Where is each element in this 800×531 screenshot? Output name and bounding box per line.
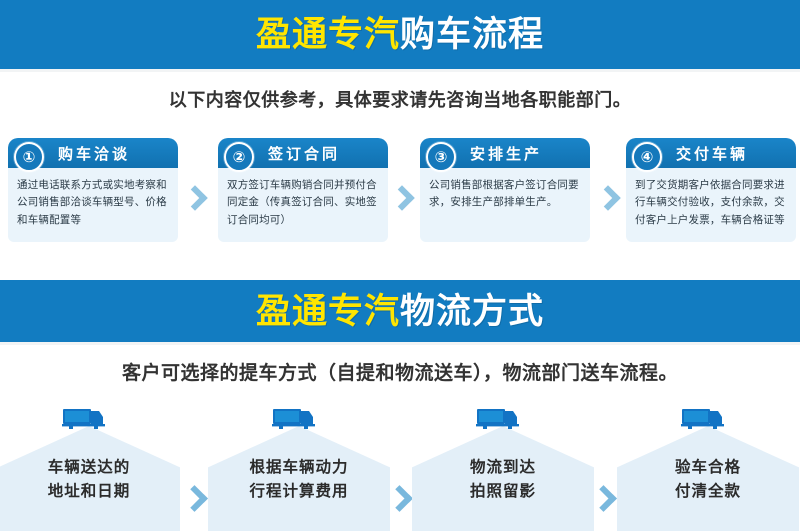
step-number-badge-3: ③ <box>426 142 456 172</box>
subtitle-logistics: 客户可选择的提车方式（自提和物流送车），物流部门送车流程。 <box>0 358 800 385</box>
banner-underline-1 <box>0 69 800 72</box>
subtitle-purchase: 以下内容仅供参考，具体要求请先咨询当地各职能部门。 <box>0 86 800 112</box>
banner-logistics: 盈通专汽物流方式 <box>0 280 800 342</box>
purchase-steps-row: ① 购车洽谈 通过电话联系方式或实地考察和公司销售部洽谈车辆型号、价格和车辆配置… <box>0 138 800 248</box>
logistics-text-3: 物流到达 拍照留影 <box>412 456 594 504</box>
banner-purchase-title: 盈通专汽购车流程 <box>256 17 544 52</box>
logistics-line1-1: 车辆送达的 <box>0 456 180 480</box>
logistics-text-1: 车辆送达的 地址和日期 <box>0 456 180 504</box>
logistics-line2-3: 拍照留影 <box>412 480 594 504</box>
logistics-text-2: 根据车辆动力 行程计算费用 <box>208 456 390 504</box>
truck-icon-1 <box>62 407 106 431</box>
logistics-line1-4: 验车合格 <box>617 456 799 480</box>
chevron-right-icon-step-1 <box>184 188 206 214</box>
step-card-4-header: ④ 交付车辆 <box>626 138 796 168</box>
chevron-right-icon-step-3 <box>597 188 619 214</box>
logistics-line2-4: 付清全款 <box>617 480 799 504</box>
step-title-3: 安排生产 <box>470 143 542 164</box>
step-card-3-header: ③ 安排生产 <box>420 138 590 168</box>
step-body-3: 公司销售部根据客户签订合同要求，安排生产部排单生产。 <box>420 168 590 212</box>
step-card-4[interactable]: ④ 交付车辆 到了交货期客户依据合同要求进行车辆交付验收，支付余款，交付客户上户… <box>626 138 796 242</box>
banner-underline-2 <box>0 342 800 345</box>
banner-purchase-process: 盈通专汽购车流程 <box>0 0 800 69</box>
step-card-2[interactable]: ② 签订合同 双方签订车辆购销合同并预付合同定金（传真签订合同、实地签订合同均可… <box>218 138 388 242</box>
logistics-line1-3: 物流到达 <box>412 456 594 480</box>
step-card-1-header: ① 购车洽谈 <box>8 138 178 168</box>
chevron-right-icon-logistics-3 <box>592 488 614 514</box>
truck-icon-2 <box>272 407 316 431</box>
step-body-4: 到了交货期客户依据合同要求进行车辆交付验收，支付余款，交付客户上户发票，车辆合格… <box>626 168 796 229</box>
logistics-steps-row: 车辆送达的 地址和日期 根据车辆动力 行程计算费用 <box>0 404 800 531</box>
step-card-1[interactable]: ① 购车洽谈 通过电话联系方式或实地考察和公司销售部洽谈车辆型号、价格和车辆配置… <box>8 138 178 242</box>
truck-icon-3 <box>476 407 520 431</box>
step-body-1: 通过电话联系方式或实地考察和公司销售部洽谈车辆型号、价格和车辆配置等 <box>8 168 178 229</box>
banner-brand-text: 盈通专汽 <box>256 15 400 54</box>
banner-rest-text-2: 物流方式 <box>400 292 544 331</box>
step-body-2: 双方签订车辆购销合同并预付合同定金（传真签订合同、实地签订合同均可） <box>218 168 388 229</box>
chevron-right-icon-step-2 <box>391 188 413 214</box>
banner-logistics-title: 盈通专汽物流方式 <box>256 294 544 329</box>
chevron-right-icon-logistics-1 <box>183 488 205 514</box>
banner-rest-text: 购车流程 <box>400 15 544 54</box>
step-title-1: 购车洽谈 <box>58 143 130 164</box>
page-root: 盈通专汽购车流程 以下内容仅供参考，具体要求请先咨询当地各职能部门。 ① 购车洽… <box>0 0 800 531</box>
logistics-line2-1: 地址和日期 <box>0 480 180 504</box>
step-number-badge-1: ① <box>14 142 44 172</box>
step-card-3[interactable]: ③ 安排生产 公司销售部根据客户签订合同要求，安排生产部排单生产。 <box>420 138 590 242</box>
banner-brand-text-2: 盈通专汽 <box>256 292 400 331</box>
step-title-2: 签订合同 <box>268 143 340 164</box>
logistics-line1-2: 根据车辆动力 <box>208 456 390 480</box>
step-number-badge-4: ④ <box>632 142 662 172</box>
step-title-4: 交付车辆 <box>676 143 748 164</box>
chevron-right-icon-logistics-2 <box>388 488 410 514</box>
step-card-2-header: ② 签订合同 <box>218 138 388 168</box>
logistics-text-4: 验车合格 付清全款 <box>617 456 799 504</box>
step-number-badge-2: ② <box>224 142 254 172</box>
logistics-line2-2: 行程计算费用 <box>208 480 390 504</box>
truck-icon-4 <box>681 407 725 431</box>
